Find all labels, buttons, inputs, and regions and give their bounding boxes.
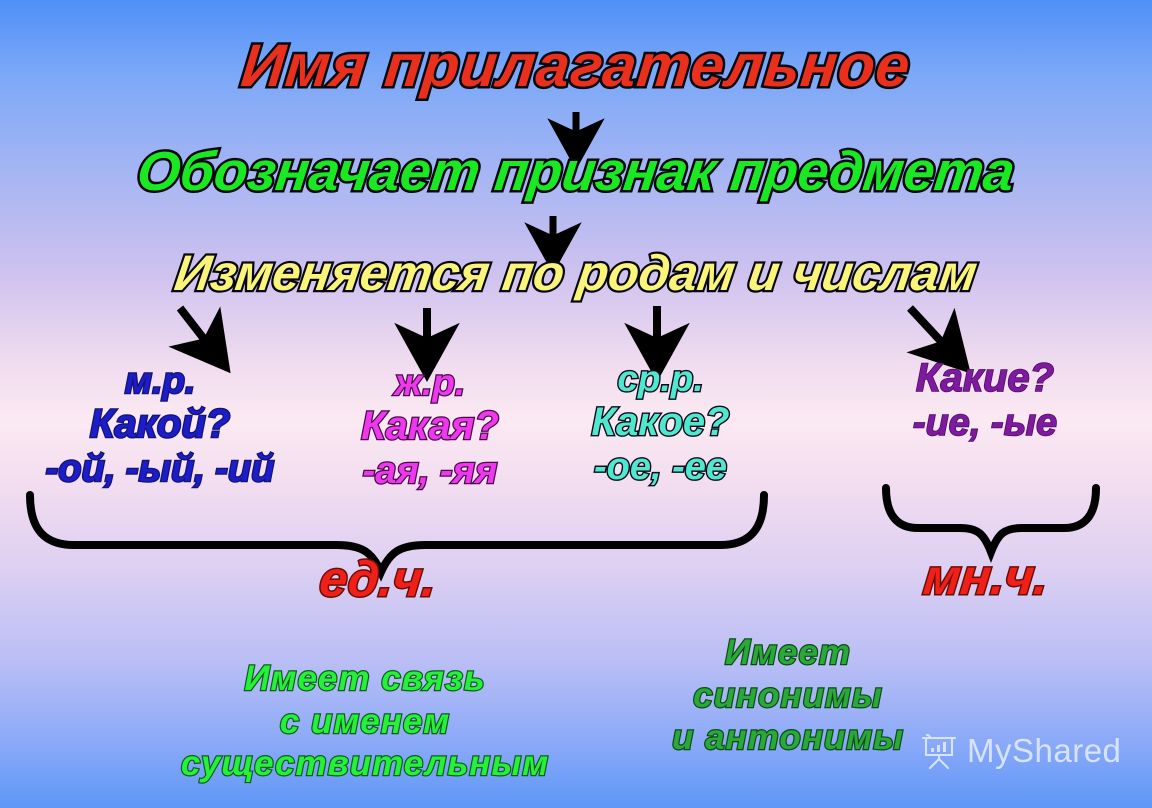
masculine-abbr: м.р. xyxy=(10,360,310,402)
brace-plural xyxy=(886,488,1096,552)
column-feminine: ж.р. Какая? -ая, -яя xyxy=(320,362,540,493)
page-title: Имя прилагательное xyxy=(0,36,1152,96)
label-singular-number: ед.ч. xyxy=(245,550,511,608)
arrow-to-masculine xyxy=(180,308,211,348)
myshared-watermark: MyShared xyxy=(920,731,1121,771)
note-left-line-3: существительным xyxy=(150,743,580,786)
neuter-abbr: ср.р. xyxy=(553,358,768,400)
masculine-endings: -ой, -ый, -ий xyxy=(10,448,310,491)
note-left-line-2: с именем xyxy=(150,701,580,744)
plural-endings: -ие, -ые xyxy=(860,402,1110,445)
myshared-label: MyShared xyxy=(967,732,1121,770)
column-plural: Какие? -ие, -ые xyxy=(860,356,1110,445)
plural-question: Какие? xyxy=(860,356,1110,402)
note-connection-with-noun: Имеет связь с именем существительным xyxy=(150,658,580,786)
feminine-abbr: ж.р. xyxy=(320,362,540,404)
slide-canvas: Имя прилагательное Обозначает признак пр… xyxy=(0,0,1152,808)
feminine-endings: -ая, -яя xyxy=(320,450,540,493)
changes-text: Изменяется по родам и числам xyxy=(0,248,1152,298)
presentation-board-icon xyxy=(920,731,960,771)
column-neuter: ср.р. Какое? -ое, -ее xyxy=(553,358,768,489)
masculine-question: Какой? xyxy=(10,402,310,448)
neuter-endings: -ое, -ее xyxy=(553,446,768,489)
neuter-question: Какое? xyxy=(553,400,768,446)
note-left-line-1: Имеет связь xyxy=(150,658,580,701)
column-masculine: м.р. Какой? -ой, -ый, -ий xyxy=(10,360,310,491)
note-right-line-2: синонимы xyxy=(588,675,988,718)
label-plural-number: мн.ч. xyxy=(863,548,1109,606)
feminine-question: Какая? xyxy=(320,404,540,450)
definition-text: Обозначает признак предмета xyxy=(0,144,1152,199)
note-right-line-1: Имеет xyxy=(588,632,988,675)
arrow-to-plural xyxy=(910,308,949,350)
